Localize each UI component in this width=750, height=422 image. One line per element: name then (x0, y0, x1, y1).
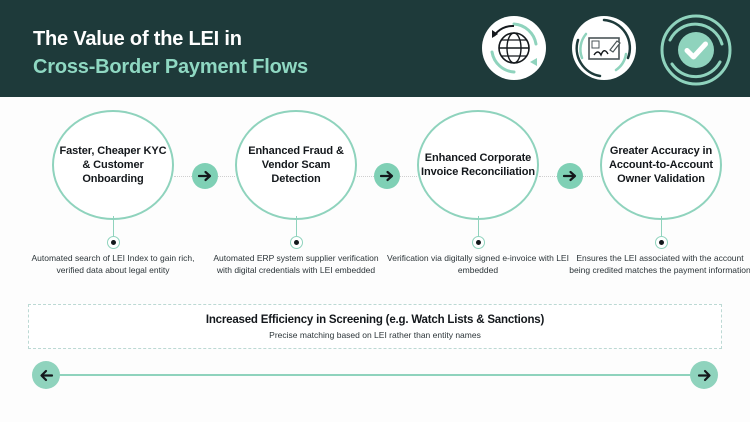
infographic-canvas: The Value of the LEI in Cross-Border Pay… (0, 0, 750, 422)
process-flow: Faster, Cheaper KYC & Customer Onboardin… (0, 100, 750, 230)
bar-line (50, 374, 700, 376)
node-dot-marker-1 (107, 236, 120, 249)
next-step-arrow-icon[interactable] (192, 163, 218, 189)
flow-connector-1 (174, 162, 235, 190)
flow-connector-2 (357, 162, 417, 190)
flow-node-4-heading: Greater Accuracy in Account-to-Account O… (600, 110, 722, 220)
flow-node-4-caption: Ensures the LEI associated with the acco… (566, 253, 750, 276)
signed-document-icon (570, 14, 638, 82)
dotted-line (357, 176, 374, 177)
node-stem-4 (661, 216, 662, 236)
dotted-line (174, 176, 192, 177)
node-stem-3 (478, 216, 479, 236)
forward-arrow-icon[interactable] (690, 361, 718, 389)
dotted-line (583, 176, 601, 177)
dotted-line (539, 176, 557, 177)
summary-subtitle: Precise matching based on LEI rather tha… (269, 330, 481, 340)
page-title: The Value of the LEI in Cross-Border Pay… (33, 27, 308, 80)
back-arrow-icon[interactable] (32, 361, 60, 389)
flow-node-1-heading: Faster, Cheaper KYC & Customer Onboardin… (52, 110, 174, 220)
flow-node-3[interactable]: Enhanced Corporate Invoice Reconciliatio… (417, 110, 539, 220)
header-banner: The Value of the LEI in Cross-Border Pay… (0, 0, 750, 97)
check-circle-icon (660, 14, 728, 82)
next-step-arrow-icon[interactable] (374, 163, 400, 189)
next-step-arrow-icon[interactable] (557, 163, 583, 189)
dotted-line (400, 176, 417, 177)
header-icon-group (480, 14, 728, 82)
bidirectional-bar (32, 361, 718, 389)
summary-box: Increased Efficiency in Screening (e.g. … (28, 304, 722, 349)
flow-node-3-heading: Enhanced Corporate Invoice Reconciliatio… (417, 110, 539, 220)
flow-node-2-heading: Enhanced Fraud & Vendor Scam Detection (235, 110, 357, 220)
summary-title: Increased Efficiency in Screening (e.g. … (206, 314, 544, 326)
globe-refresh-icon (480, 14, 548, 82)
title-line-1: The Value of the LEI in (33, 27, 308, 52)
flow-node-4[interactable]: Greater Accuracy in Account-to-Account O… (600, 110, 722, 220)
node-dot-marker-3 (472, 236, 485, 249)
flow-node-3-caption: Verification via digitally signed e-invo… (387, 253, 569, 276)
flow-connector-3 (539, 162, 600, 190)
node-dot-marker-2 (290, 236, 303, 249)
flow-node-1[interactable]: Faster, Cheaper KYC & Customer Onboardin… (52, 110, 174, 220)
dotted-line (218, 176, 236, 177)
node-dot-marker-4 (655, 236, 668, 249)
node-stem-1 (113, 216, 114, 236)
title-line-2: Cross-Border Payment Flows (33, 55, 308, 80)
flow-node-2[interactable]: Enhanced Fraud & Vendor Scam Detection (235, 110, 357, 220)
node-stem-2 (296, 216, 297, 236)
flow-node-2-caption: Automated ERP system supplier verificati… (205, 253, 387, 276)
flow-node-1-caption: Automated search of LEI Index to gain ri… (22, 253, 204, 276)
